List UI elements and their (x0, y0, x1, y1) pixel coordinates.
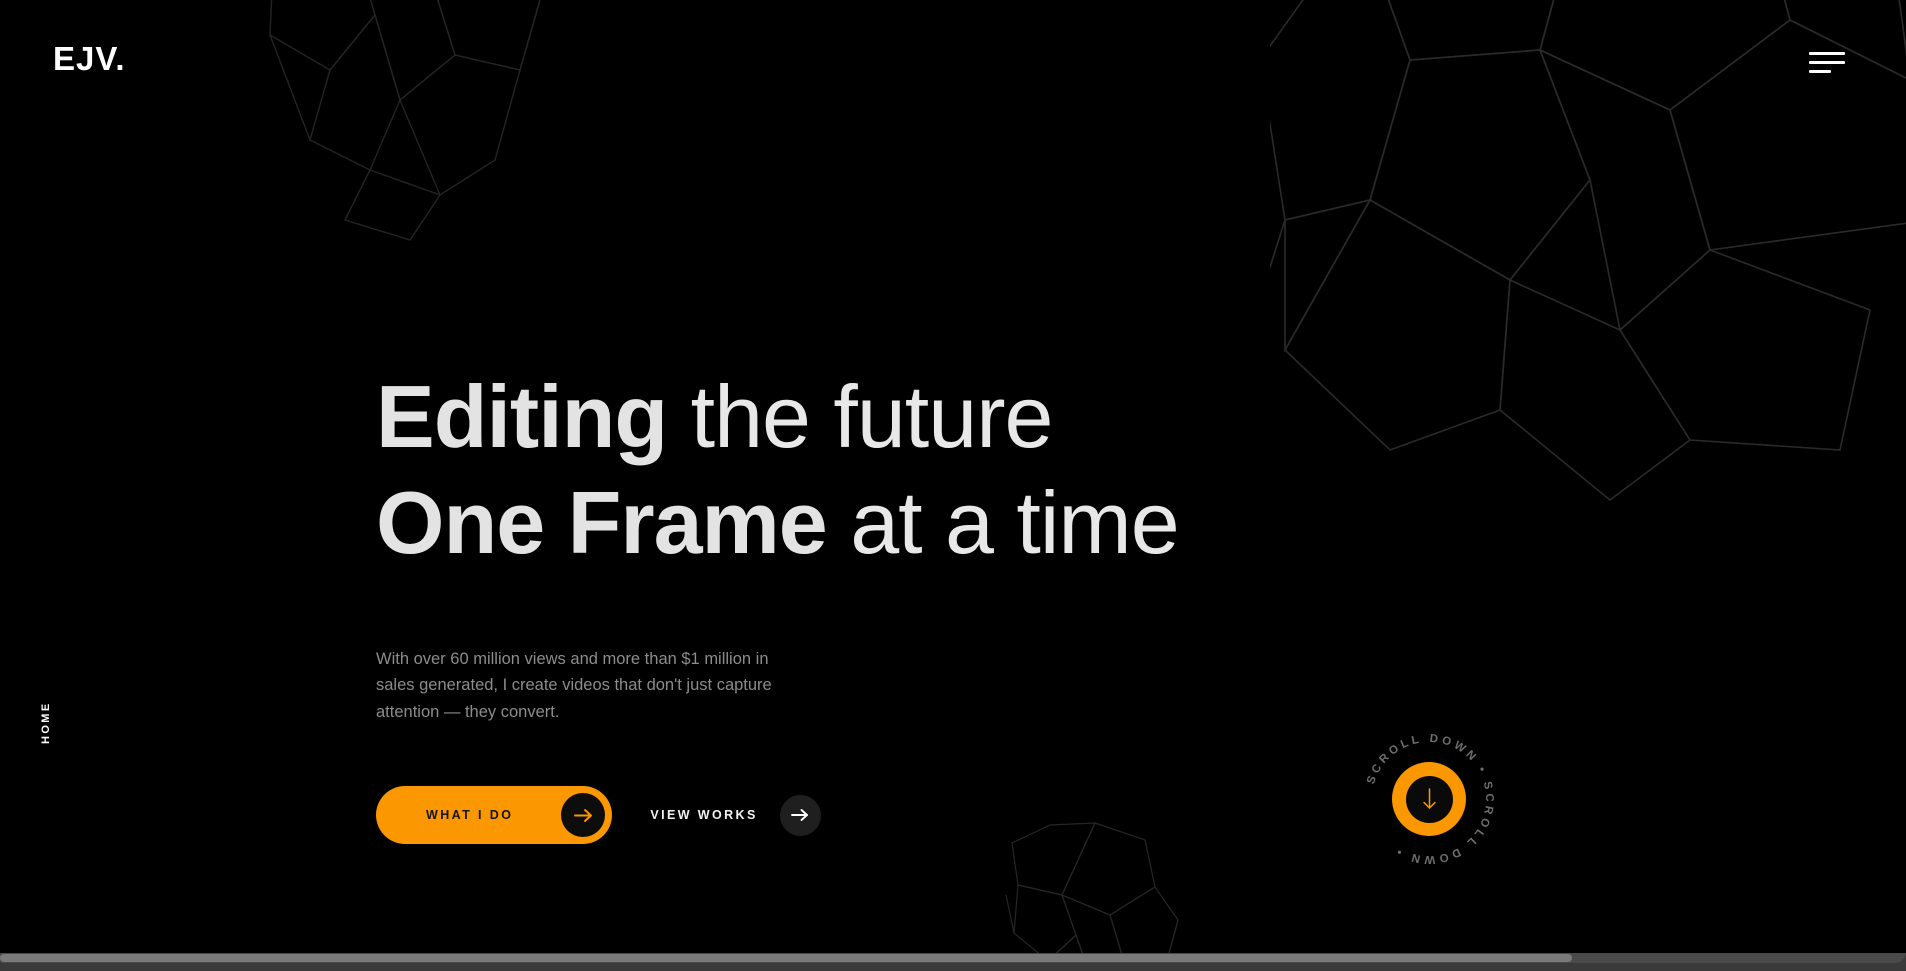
arrow-down-icon (1422, 787, 1437, 811)
scroll-down-button[interactable] (1392, 762, 1466, 836)
hero-headline-light-1: the future (691, 367, 1053, 466)
hero-headline-bold-2: One Frame (376, 473, 827, 572)
hero-headline-line-2: One Frame at a time (376, 478, 1376, 568)
dodecahedron-wireframe-bottom-center (1000, 815, 1190, 963)
hero-headline-line-1: Editing the future (376, 372, 1376, 462)
horizontal-scrollbar-thumb[interactable] (0, 954, 1572, 962)
site-header: EJV. (0, 0, 1906, 135)
hamburger-bar-2 (1809, 61, 1845, 64)
hamburger-menu-icon[interactable] (1809, 52, 1845, 74)
hero-cta-row: What I Do View Works (376, 786, 821, 844)
hero-headline-light-2: at a time (850, 473, 1178, 572)
hamburger-bar-1 (1809, 52, 1845, 55)
view-works-button[interactable]: View Works (650, 795, 820, 836)
what-i-do-button-label: What I Do (426, 808, 513, 822)
brand-logo[interactable]: EJV. (53, 42, 126, 75)
section-indicator-home: HOME (40, 701, 52, 744)
page-root: EJV. HOME Editing the future One Frame a… (0, 0, 1906, 963)
horizontal-scrollbar-track[interactable] (0, 953, 1906, 963)
scroll-down-indicator[interactable]: SCROLL DOWN • SCROLL DOWN • (1370, 740, 1488, 858)
what-i-do-button[interactable]: What I Do (376, 786, 612, 844)
hamburger-bar-3 (1809, 70, 1831, 73)
view-works-button-label: View Works (650, 808, 757, 822)
scroll-down-button-inner (1406, 776, 1453, 823)
hero-description: With over 60 million views and more than… (376, 646, 811, 726)
hero-headline-bold-1: Editing (376, 367, 667, 466)
arrow-right-icon (561, 793, 605, 837)
hero-section: Editing the future One Frame at a time W… (376, 372, 1376, 726)
arrow-right-icon (780, 795, 821, 836)
